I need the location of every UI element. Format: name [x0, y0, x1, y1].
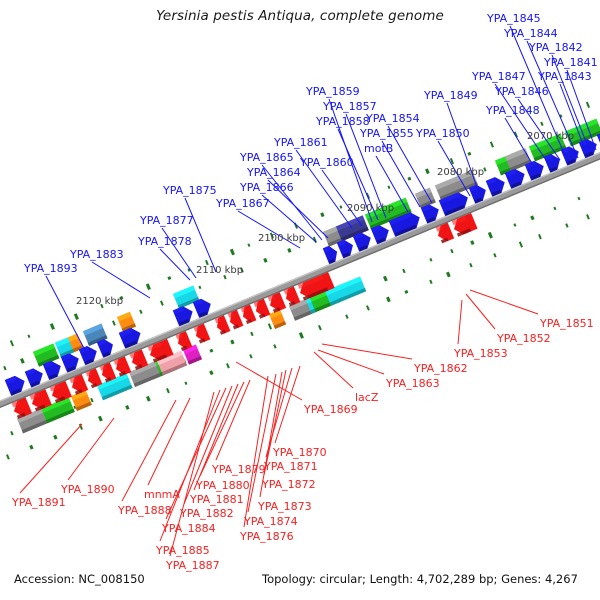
ruler-tick-label-2: 2090 kbp	[347, 203, 394, 214]
forward-gene-label-ypa-1893[interactable]: YPA_1893	[24, 263, 78, 274]
reverse-gene-label-ypa-1872[interactable]: YPA_1872	[262, 479, 316, 490]
forward-gene-label-ypa-1850[interactable]: YPA_1850	[416, 128, 470, 139]
forward-gene-label-ypa-1877[interactable]: YPA_1877	[140, 215, 194, 226]
forward-gene-label-motb[interactable]: motB	[364, 143, 393, 154]
reverse-gene-label-ypa-1869[interactable]: YPA_1869	[304, 404, 358, 415]
reverse-gene-label-ypa-1881[interactable]: YPA_1881	[190, 494, 244, 505]
reverse-gene-label-ypa-1852[interactable]: YPA_1852	[497, 333, 551, 344]
reverse-leader-line-1	[466, 294, 495, 329]
reverse-gene-label-lacz[interactable]: lacZ	[355, 392, 378, 403]
reverse-gene-label-ypa-1874[interactable]: YPA_1874	[244, 516, 298, 527]
reverse-leader-line-11	[248, 374, 276, 512]
reverse-feature-block-4[interactable]	[269, 310, 286, 329]
ruler-tick-label-1: 2080 kbp	[437, 167, 484, 178]
reverse-feature-block-13[interactable]	[71, 390, 92, 411]
reverse-gene-label-ypa-1888[interactable]: YPA_1888	[118, 505, 172, 516]
reverse-gene-label-ypa-1879[interactable]: YPA_1879	[212, 464, 266, 475]
forward-gene-label-ypa-1846[interactable]: YPA_1846	[495, 86, 549, 97]
forward-gene-label-ypa-1858[interactable]: YPA_1858	[316, 116, 370, 127]
forward-gene-label-ypa-1861[interactable]: YPA_1861	[274, 137, 328, 148]
forward-gene-label-ypa-1841[interactable]: YPA_1841	[544, 57, 598, 68]
forward-leader-line-24	[160, 249, 190, 280]
reverse-gene-label-ypa-1890[interactable]: YPA_1890	[61, 484, 115, 495]
reverse-gene-label-ypa-1870[interactable]: YPA_1870	[273, 447, 327, 458]
forward-gene-label-ypa-1844[interactable]: YPA_1844	[504, 28, 558, 39]
forward-leader-line-17	[322, 170, 362, 226]
reverse-gene-label-ypa-1884[interactable]: YPA_1884	[162, 523, 216, 534]
forward-gene-label-ypa-1859[interactable]: YPA_1859	[306, 86, 360, 97]
genome-map-viewer: Yersinia pestis Antiqua, complete genome…	[0, 0, 600, 600]
ruler-tick-label-4: 2110 kbp	[196, 265, 243, 276]
accession-text: Accession: NC_008150	[14, 572, 145, 586]
topology-text: Topology: circular; Length: 4,702,289 bp…	[262, 572, 578, 586]
forward-gene-label-ypa-1854[interactable]: YPA_1854	[366, 113, 420, 124]
forward-gene-label-ypa-1848[interactable]: YPA_1848	[486, 105, 540, 116]
ruler-tick-label-3: 2100 kbp	[258, 233, 305, 244]
forward-gene-label-ypa-1864[interactable]: YPA_1864	[247, 167, 301, 178]
reverse-leader-line-13	[216, 380, 250, 460]
forward-gene-label-ypa-1860[interactable]: YPA_1860	[300, 157, 354, 168]
reverse-gene-label-ypa-1876[interactable]: YPA_1876	[240, 531, 294, 542]
ruler-tick-label-0: 2070 kbp	[527, 131, 574, 142]
forward-gene-label-ypa-1842[interactable]: YPA_1842	[529, 42, 583, 53]
reverse-gene-label-ypa-1862[interactable]: YPA_1862	[414, 363, 468, 374]
forward-gene-label-ypa-1857[interactable]: YPA_1857	[323, 101, 377, 112]
forward-gene-label-ypa-1866[interactable]: YPA_1866	[240, 182, 294, 193]
reverse-gene-label-ypa-1887[interactable]: YPA_1887	[166, 560, 220, 571]
forward-leader-line-25	[92, 262, 150, 298]
forward-gene-label-ypa-1843[interactable]: YPA_1843	[538, 71, 592, 82]
forward-gene-label-ypa-1855[interactable]: YPA_1855	[360, 128, 414, 139]
reverse-gene-label-ypa-1873[interactable]: YPA_1873	[258, 501, 312, 512]
forward-gene-label-ypa-1875[interactable]: YPA_1875	[163, 185, 217, 196]
reverse-leader-line-6	[236, 362, 302, 400]
reverse-leader-line-21	[122, 400, 176, 501]
reverse-gene-label-ypa-1885[interactable]: YPA_1885	[156, 545, 210, 556]
reverse-gene-label-ypa-1891[interactable]: YPA_1891	[12, 497, 66, 508]
reverse-leader-line-4	[318, 350, 384, 374]
reverse-gene-label-ypa-1880[interactable]: YPA_1880	[196, 480, 250, 491]
reverse-gene-label-mnma[interactable]: mnmA	[144, 489, 180, 500]
forward-gene-label-ypa-1867[interactable]: YPA_1867	[216, 198, 270, 209]
reverse-gene-label-ypa-1863[interactable]: YPA_1863	[386, 378, 440, 389]
reverse-gene-label-ypa-1853[interactable]: YPA_1853	[454, 348, 508, 359]
forward-feature-block-10[interactable]	[117, 312, 136, 332]
reverse-gene-label-ypa-1851[interactable]: YPA_1851	[540, 318, 594, 329]
forward-gene-label-ypa-1865[interactable]: YPA_1865	[240, 152, 294, 163]
reverse-gene-label-ypa-1871[interactable]: YPA_1871	[264, 461, 318, 472]
forward-gene-label-ypa-1845[interactable]: YPA_1845	[487, 13, 541, 24]
reverse-gene-label-ypa-1882[interactable]: YPA_1882	[180, 508, 234, 519]
reverse-leader-line-2	[458, 300, 462, 344]
forward-gene-label-ypa-1847[interactable]: YPA_1847	[472, 71, 526, 82]
ruler-tick-label-5: 2120 kbp	[76, 296, 123, 307]
forward-gene-label-ypa-1883[interactable]: YPA_1883	[70, 249, 124, 260]
reverse-leader-line-5	[314, 352, 353, 388]
footer: Accession: NC_008150 Topology: circular;…	[0, 572, 600, 592]
reverse-leader-line-22	[68, 418, 114, 480]
forward-gene-label-ypa-1878[interactable]: YPA_1878	[138, 236, 192, 247]
forward-gene-label-ypa-1849[interactable]: YPA_1849	[424, 90, 478, 101]
